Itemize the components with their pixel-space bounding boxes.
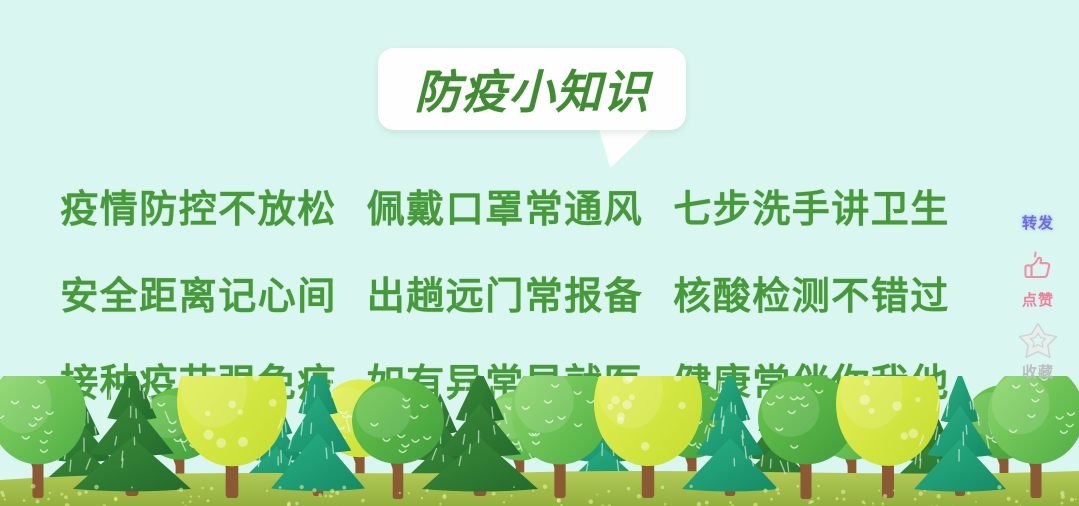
title-bubble: 防疫小知识 <box>378 48 686 130</box>
favorite-label: 收藏 <box>1022 361 1054 382</box>
slogan-item: 七步洗手讲卫生 <box>673 178 950 233</box>
like-label: 点赞 <box>1022 289 1054 310</box>
action-rail: 转发 点赞 收藏 <box>1005 212 1071 382</box>
page-title: 防疫小知识 <box>378 48 686 130</box>
star-icon[interactable] <box>1017 320 1059 360</box>
forward-label: 转发 <box>1022 212 1054 233</box>
slogan-item: 安全距离记心间 <box>60 265 337 320</box>
slogan-row: 安全距离记心间 出趟远门常报备 核酸检测不错过 <box>0 249 1010 336</box>
thumbs-up-icon[interactable] <box>1018 247 1058 287</box>
like-button[interactable]: 点赞 <box>1005 247 1071 310</box>
poster-canvas: 防疫小知识 疫情防控不放松 佩戴口罩常通风 七步洗手讲卫生 安全距离记心间 出趟… <box>0 0 1079 506</box>
forward-button[interactable]: 转发 <box>1005 212 1071 233</box>
slogan-item: 佩戴口罩常通风 <box>367 178 644 233</box>
slogan-row: 疫情防控不放松 佩戴口罩常通风 七步洗手讲卫生 <box>0 162 1010 249</box>
slogan-item: 出趟远门常报备 <box>367 265 644 320</box>
forest-illustration <box>0 376 1079 506</box>
favorite-button[interactable]: 收藏 <box>1005 320 1071 382</box>
slogan-item: 疫情防控不放松 <box>60 178 337 233</box>
slogan-item: 核酸检测不错过 <box>673 265 950 320</box>
